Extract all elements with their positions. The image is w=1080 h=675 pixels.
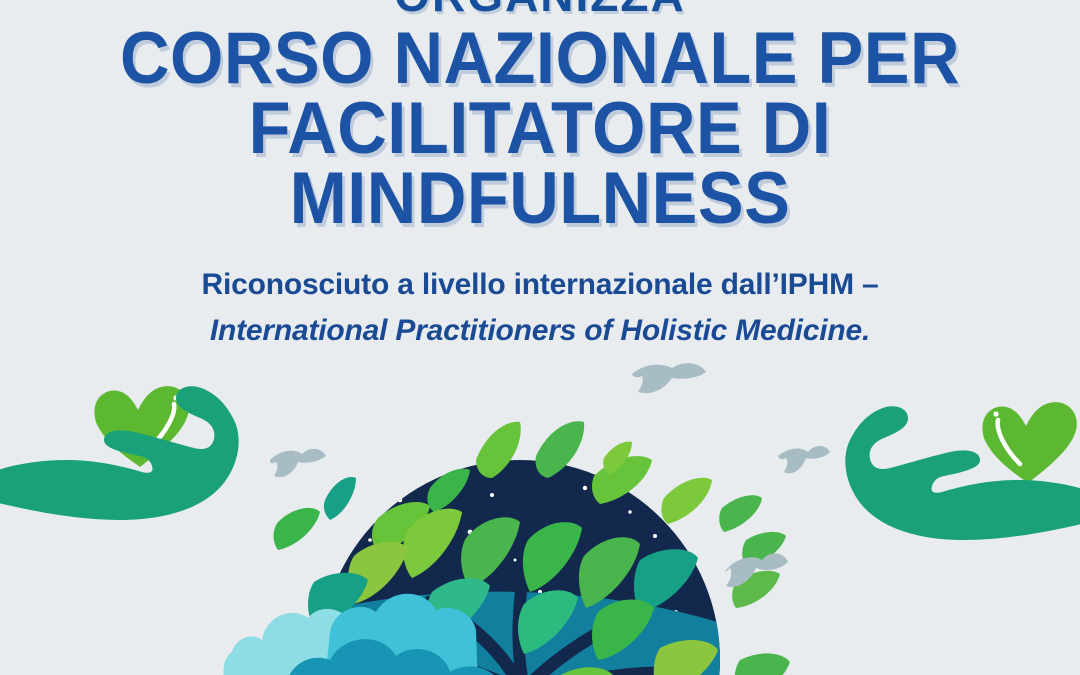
poster-canvas: ORGANIZZA CORSO NAZIONALE PER FACILITATO… — [0, 0, 1080, 675]
nature-illustration — [0, 360, 1080, 675]
subtitle: Riconosciuto a livello internazionale da… — [0, 262, 1080, 354]
headline-line-2: FACILITATORE DI — [32, 94, 1047, 164]
right-heart-icon — [982, 402, 1076, 483]
headline-line-3: MINDFULNESS — [32, 164, 1047, 234]
subtitle-line-2: International Practitioners of Holistic … — [0, 308, 1080, 354]
headline-line-1: CORSO NAZIONALE PER — [32, 24, 1047, 94]
organizer-label: ORGANIZZA — [0, 0, 1080, 18]
subtitle-line-1: Riconosciuto a livello internazionale da… — [201, 268, 878, 301]
page-title: CORSO NAZIONALE PER FACILITATORE DI MIND… — [32, 24, 1047, 234]
